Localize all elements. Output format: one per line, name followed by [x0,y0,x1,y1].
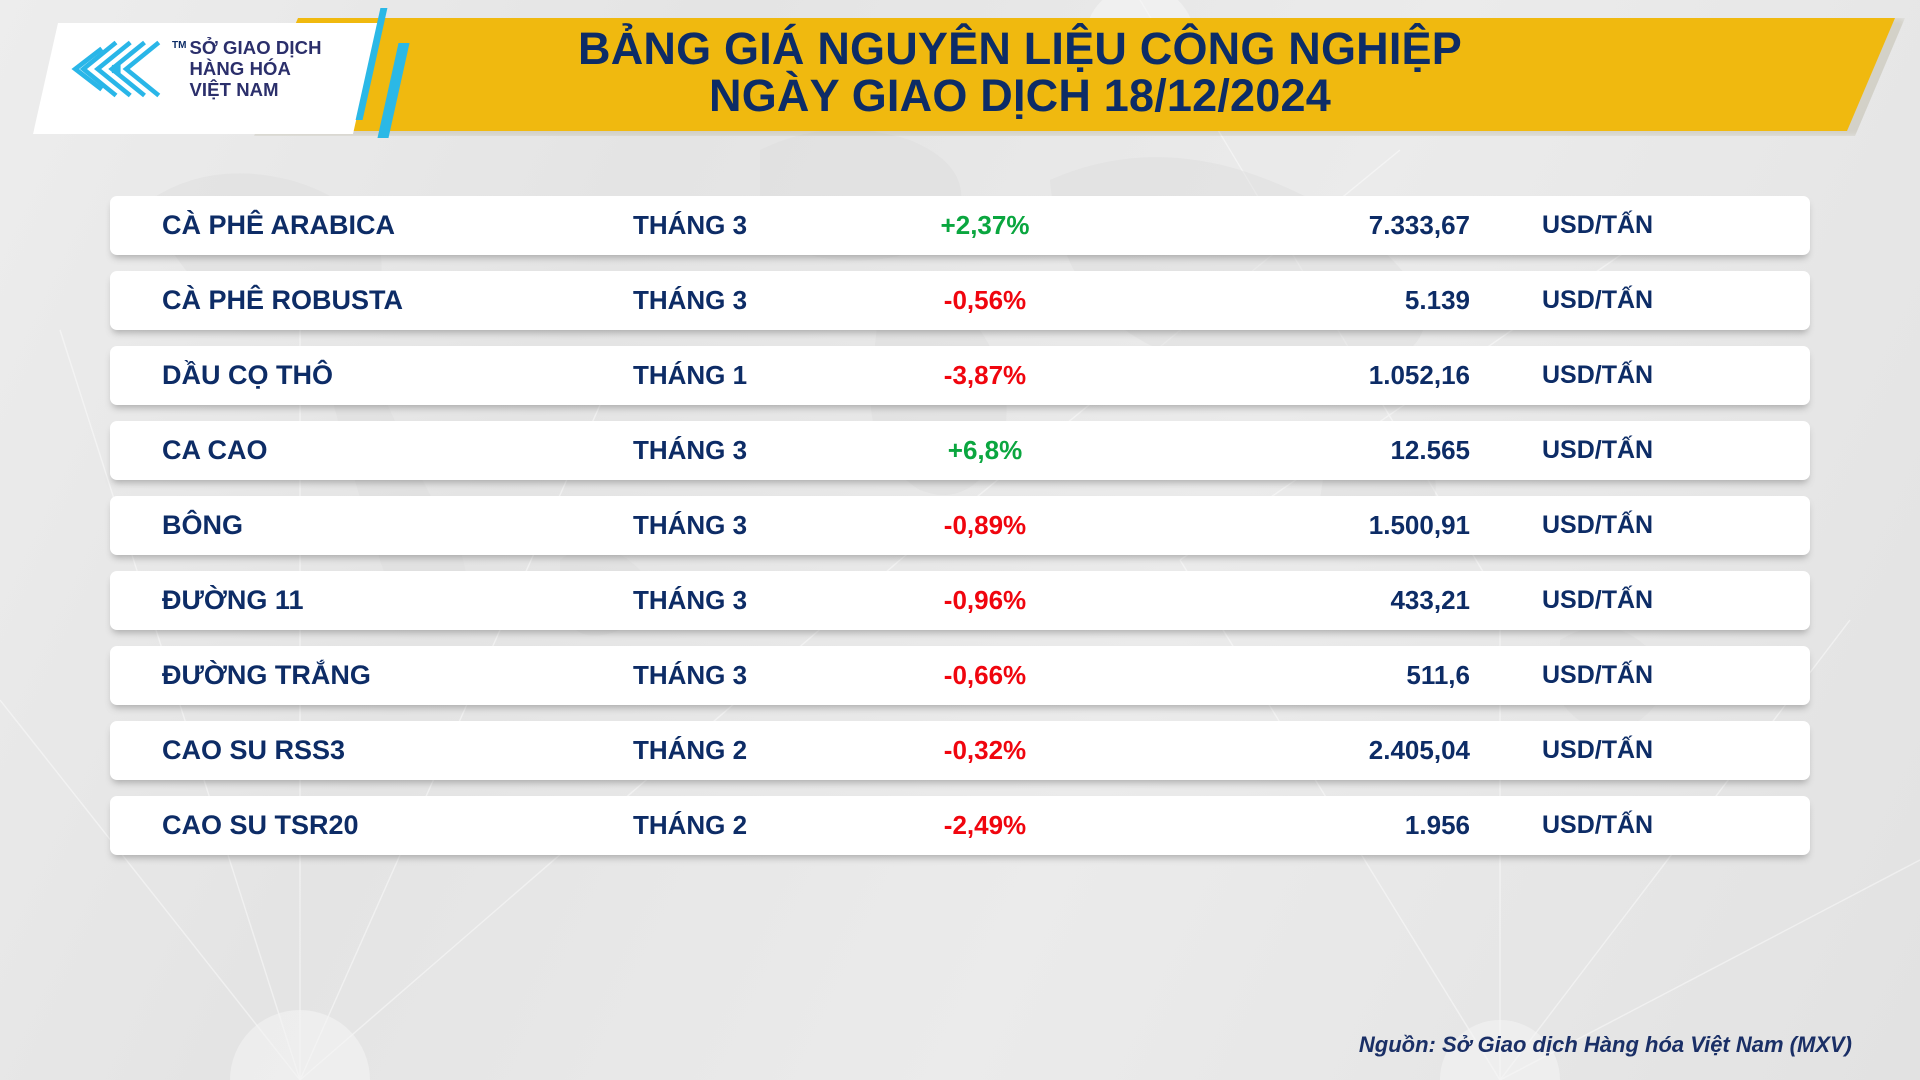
price-value: 2.405,04 [1130,735,1470,766]
price-unit: USD/TẤN [1470,586,1810,615]
contract-month: THÁNG 2 [540,810,840,841]
contract-month: THÁNG 3 [540,510,840,541]
logo: TM SỞ GIAO DỊCH HÀNG HÓA VIỆT NAM [63,37,322,100]
commodity-name: BÔNG [110,510,540,541]
title-line-1: BẢNG GIÁ NGUYÊN LIỆU CÔNG NGHIỆP [420,26,1620,73]
commodity-name: DẦU CỌ THÔ [110,360,540,391]
price-change-percent: +6,8% [840,435,1130,466]
price-unit: USD/TẤN [1470,511,1810,540]
price-unit: USD/TẤN [1470,286,1810,315]
price-change-percent: -0,32% [840,735,1130,766]
logo-text-line2: HÀNG HÓA [189,58,321,79]
logo-text-line3: VIỆT NAM [189,79,321,100]
price-unit: USD/TẤN [1470,661,1810,690]
commodity-name: ĐƯỜNG TRẮNG [110,660,540,691]
commodity-name: ĐƯỜNG 11 [110,585,540,616]
table-row[interactable]: ĐƯỜNG TRẮNGTHÁNG 3-0,66%511,6USD/TẤN [110,646,1810,705]
table-row[interactable]: CAO SU RSS3THÁNG 2-0,32%2.405,04USD/TẤN [110,721,1810,780]
price-unit: USD/TẤN [1470,811,1810,840]
contract-month: THÁNG 1 [540,360,840,391]
logo-text-line1: SỞ GIAO DỊCH [189,37,321,58]
table-row[interactable]: CAO SU TSR20THÁNG 2-2,49%1.956USD/TẤN [110,796,1810,855]
commodity-name: CAO SU TSR20 [110,810,540,841]
contract-month: THÁNG 3 [540,285,840,316]
contract-month: THÁNG 3 [540,210,840,241]
price-change-percent: -0,89% [840,510,1130,541]
table-row[interactable]: CÀ PHÊ ARABICATHÁNG 3+2,37%7.333,67USD/T… [110,196,1810,255]
price-value: 1.956 [1130,810,1470,841]
price-unit: USD/TẤN [1470,736,1810,765]
price-value: 433,21 [1130,585,1470,616]
price-change-percent: -0,96% [840,585,1130,616]
price-value: 1.052,16 [1130,360,1470,391]
price-change-percent: -2,49% [840,810,1130,841]
price-value: 5.139 [1130,285,1470,316]
commodity-name: CA CAO [110,435,540,466]
price-value: 12.565 [1130,435,1470,466]
table-row[interactable]: BÔNGTHÁNG 3-0,89%1.500,91USD/TẤN [110,496,1810,555]
contract-month: THÁNG 3 [540,660,840,691]
source-note: Nguồn: Sở Giao dịch Hàng hóa Việt Nam (M… [1359,1032,1852,1058]
price-change-percent: -0,56% [840,285,1130,316]
price-change-percent: -3,87% [840,360,1130,391]
mxv-logo-icon [63,38,170,100]
trademark-symbol: TM [172,40,186,51]
price-value: 7.333,67 [1130,210,1470,241]
price-value: 1.500,91 [1130,510,1470,541]
price-value: 511,6 [1130,660,1470,691]
commodity-name: CÀ PHÊ ROBUSTA [110,285,540,316]
header: TM SỞ GIAO DỊCH HÀNG HÓA VIỆT NAM BẢNG G… [0,0,1920,145]
table-row[interactable]: DẦU CỌ THÔTHÁNG 1-3,87%1.052,16USD/TẤN [110,346,1810,405]
contract-month: THÁNG 3 [540,585,840,616]
logo-text: SỞ GIAO DỊCH HÀNG HÓA VIỆT NAM [189,37,321,100]
price-unit: USD/TẤN [1470,436,1810,465]
commodity-name: CAO SU RSS3 [110,735,540,766]
title-line-2: NGÀY GIAO DỊCH 18/12/2024 [420,73,1620,120]
price-table: CÀ PHÊ ARABICATHÁNG 3+2,37%7.333,67USD/T… [0,196,1920,871]
price-unit: USD/TẤN [1470,211,1810,240]
contract-month: THÁNG 2 [540,735,840,766]
price-unit: USD/TẤN [1470,361,1810,390]
table-row[interactable]: ĐƯỜNG 11THÁNG 3-0,96%433,21USD/TẤN [110,571,1810,630]
price-change-percent: -0,66% [840,660,1130,691]
table-row[interactable]: CA CAOTHÁNG 3+6,8%12.565USD/TẤN [110,421,1810,480]
contract-month: THÁNG 3 [540,435,840,466]
price-change-percent: +2,37% [840,210,1130,241]
page-title: BẢNG GIÁ NGUYÊN LIỆU CÔNG NGHIỆP NGÀY GI… [420,26,1620,120]
table-row[interactable]: CÀ PHÊ ROBUSTATHÁNG 3-0,56%5.139USD/TẤN [110,271,1810,330]
commodity-name: CÀ PHÊ ARABICA [110,210,540,241]
